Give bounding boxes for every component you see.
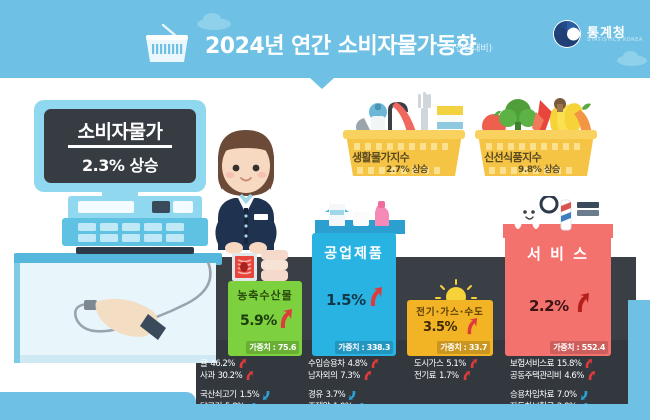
detail-text: 귤 — [200, 358, 207, 370]
detail-pct: 7.3% — [340, 370, 360, 382]
footer-right-band — [628, 300, 650, 420]
arrow-up-icon — [575, 293, 591, 313]
detail-gap — [200, 382, 292, 389]
meat-eggs-icon — [231, 248, 291, 282]
header-notch — [310, 78, 334, 89]
detail-pct: 7.0% — [557, 389, 577, 401]
detail-gap — [308, 382, 404, 389]
living-cost-basket: 생활물가지수 2.7% 상승 — [338, 82, 470, 178]
detail-pct: 3.7% — [326, 389, 346, 401]
arrow-down-icon — [348, 390, 357, 400]
detail-row: 보험서비스료15.8% — [510, 358, 634, 370]
bar-pct-utilities: 3.5% — [423, 320, 457, 335]
cpi-label: 소비자물가 — [44, 117, 196, 144]
cashier-character-illustration — [198, 122, 294, 254]
bar-weight-services: 가중치 : 552.4 — [550, 341, 608, 354]
detail-text: 경유 — [308, 389, 323, 401]
detail-row: 도시가스5.1% — [414, 358, 504, 370]
detail-row: 승용차임차료7.0% — [510, 389, 634, 401]
cpi-monitor: 소비자물가 2.3% 상승 — [34, 100, 206, 192]
detail-text: 보험서비스료 — [510, 358, 554, 370]
bar-agri-livestock-fishery[interactable]: 농축수산물 5.9% 가중치 : 75.6 — [228, 281, 302, 356]
cash-register-icon — [60, 192, 210, 258]
footer-band — [0, 404, 650, 420]
arrow-up-icon — [584, 359, 593, 369]
arrow-up-icon — [363, 371, 372, 381]
shopping-basket-icon — [143, 22, 191, 66]
detail-pct: 15.8% — [557, 358, 582, 370]
detail-row: 전기료1.7% — [414, 370, 504, 382]
detail-row: 귤46.2% — [200, 358, 292, 370]
detail-gap — [510, 382, 634, 389]
arrow-up-icon — [469, 359, 478, 369]
taegeuk-logo-icon — [553, 20, 581, 48]
arrow-up-icon — [370, 359, 379, 369]
arrow-up-icon — [238, 359, 247, 369]
milk-detergent-icon — [315, 198, 405, 234]
bar-industrial-products[interactable]: 공업제품 1.5% 가중치 : 338.3 — [312, 233, 396, 356]
cloud-decor-icon — [203, 13, 221, 26]
arrow-up-icon — [465, 318, 479, 335]
bar-electricity-gas-water[interactable]: 전기·가스·수도 3.5% 가중치 : 33.7 — [407, 300, 493, 356]
living-cost-value: 2.7% 상승 — [386, 162, 428, 175]
cpi-screen: 소비자물가 2.3% 상승 — [44, 109, 196, 183]
arrow-up-icon — [587, 371, 596, 381]
barcode-scanner-icon — [60, 262, 220, 362]
bar-weight-industrial: 가중치 : 338.3 — [335, 341, 393, 354]
arrow-up-icon — [245, 371, 254, 381]
detail-row: 수입승용차4.8% — [308, 358, 404, 370]
bar-weight-utilities: 가중치 : 33.7 — [437, 341, 490, 354]
bar-pct-agri: 5.9% — [240, 313, 277, 329]
detail-row: 경유3.7% — [308, 389, 404, 401]
page-title: 2024년 연간 소비자물가동향 — [205, 28, 476, 60]
detail-text: 사과 — [200, 370, 215, 382]
bar-services[interactable]: 서 비 스 2.2% 가중치 : 552.4 — [505, 231, 611, 356]
fresh-food-basket: 신선식품지수 9.8% 상승 — [470, 82, 602, 178]
header-bar: 2024년 연간 소비자물가동향 (전년대비) 통계청 STATISTICS K… — [0, 0, 650, 78]
bar-title-industrial: 공업제품 — [312, 243, 396, 263]
bar-pct-industrial: 1.5% — [326, 291, 366, 309]
fresh-food-value: 9.8% 상승 — [518, 162, 560, 175]
bar-pct-services: 2.2% — [529, 297, 569, 315]
detail-pct: 46.2% — [210, 358, 235, 370]
bar-title-agri: 농축수산물 — [228, 287, 302, 303]
arrow-up-icon — [368, 287, 384, 307]
detail-row: 국산쇠고기1.5% — [200, 389, 292, 401]
detail-row: 공동주택관리비4.6% — [510, 370, 634, 382]
detail-pct: 5.1% — [446, 358, 466, 370]
detail-pct: 4.8% — [348, 358, 368, 370]
cpi-divider — [68, 145, 172, 148]
detail-text: 전기료 — [414, 370, 436, 382]
bar-weight-agri: 가중치 : 75.6 — [246, 341, 299, 354]
agency-name-en: STATISTICS KOREA — [587, 37, 643, 43]
page-subtitle: (전년대비) — [452, 41, 492, 54]
arrow-down-icon — [262, 390, 271, 400]
detail-text: 국산쇠고기 — [200, 389, 237, 401]
cpi-value: 2.3% 상승 — [44, 152, 196, 176]
detail-text: 도시가스 — [414, 358, 443, 370]
agency-logo: 통계청 STATISTICS KOREA — [553, 20, 643, 50]
detail-text: 승용차임차료 — [510, 389, 554, 401]
arrow-up-icon — [278, 309, 294, 329]
detail-text: 수입승용차 — [308, 358, 345, 370]
bar-title-services: 서 비 스 — [505, 243, 611, 264]
detail-pct: 4.6% — [564, 370, 584, 382]
arrow-down-icon — [580, 390, 589, 400]
detail-pct: 1.5% — [240, 389, 260, 401]
detail-text: 공동주택관리비 — [510, 370, 561, 382]
infographic-canvas: 2024년 연간 소비자물가동향 (전년대비) 통계청 STATISTICS K… — [0, 0, 650, 420]
detail-pct: 30.2% — [218, 370, 243, 382]
detail-row: 사과30.2% — [200, 370, 292, 382]
cloud-decor-icon — [623, 51, 638, 62]
detail-pct: 1.7% — [439, 370, 459, 382]
bar-title-utilities: 전기·가스·수도 — [407, 304, 493, 318]
detail-row: 남자외의7.3% — [308, 370, 404, 382]
detail-utilities: 도시가스5.1% 전기료1.7% — [414, 358, 504, 382]
detail-text: 남자외의 — [308, 370, 337, 382]
arrow-up-icon — [462, 371, 471, 381]
